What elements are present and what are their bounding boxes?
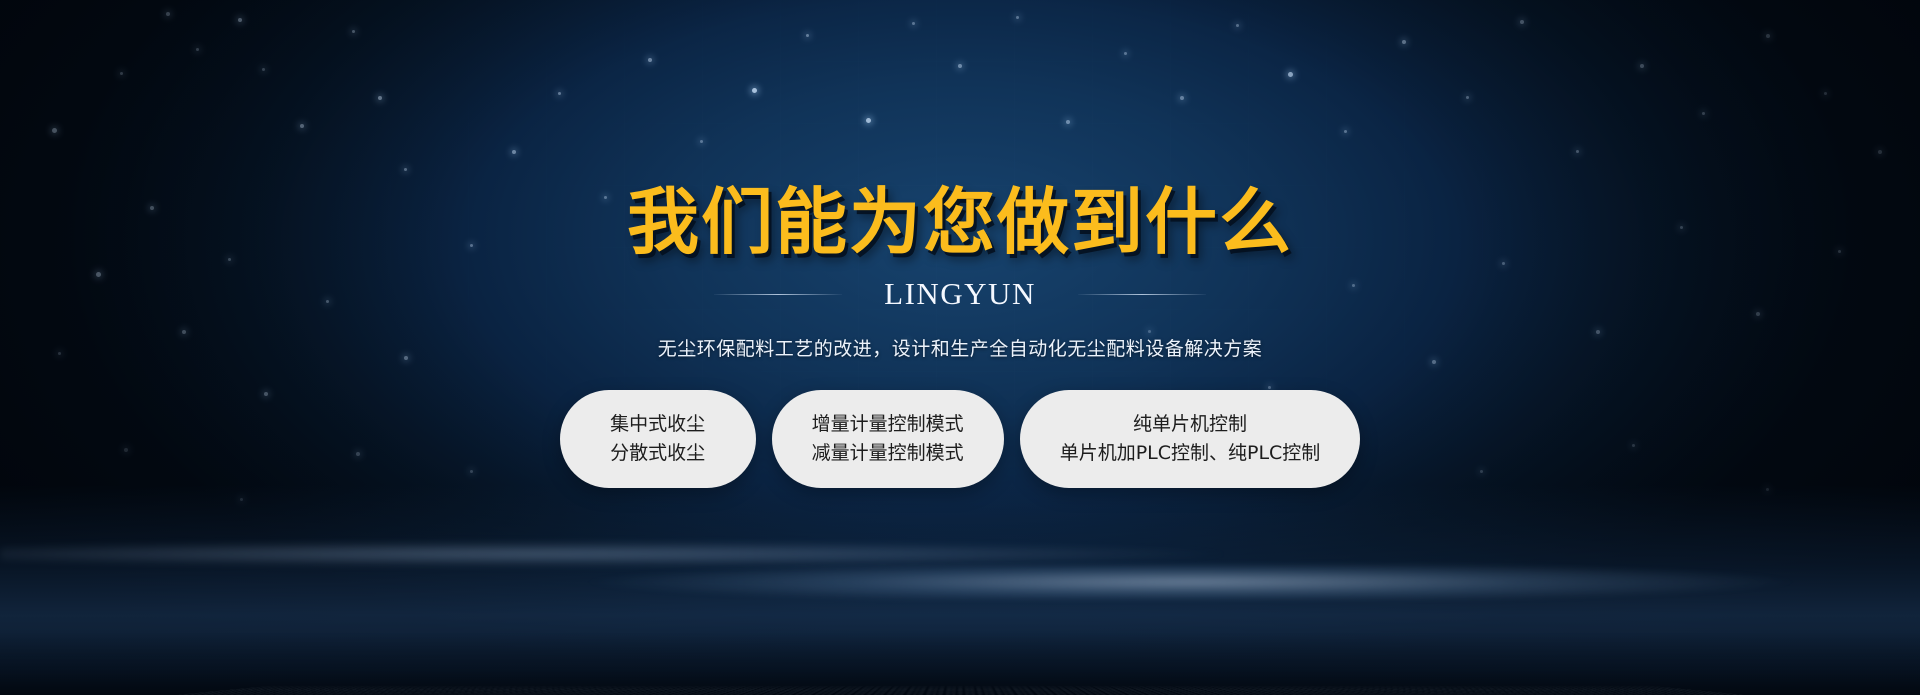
banner-description: 无尘环保配料工艺的改进，设计和生产全自动化无尘配料设备解决方案 [658,334,1263,361]
divider-line-right [1078,294,1206,295]
feature-card-dust-collection[interactable]: 集中式收尘 分散式收尘 [560,390,756,488]
feature-card-control-system[interactable]: 纯单片机控制 单片机加PLC控制、纯PLC控制 [1020,390,1361,488]
card-line-2: 单片机加PLC控制、纯PLC控制 [1060,439,1321,468]
card-line-2: 分散式收尘 [610,439,705,468]
brand-row: LINGYUN [714,276,1206,312]
banner-content: 我们能为您做到什么 LINGYUN 无尘环保配料工艺的改进，设计和生产全自动化无… [0,0,1920,695]
brand-latin-name: LINGYUN [884,276,1036,312]
divider-line-left [714,294,842,295]
card-line-1: 集中式收尘 [610,410,705,439]
page-title: 我们能为您做到什么 [627,186,1293,258]
card-line-1: 纯单片机控制 [1133,410,1247,439]
hero-banner: 我们能为您做到什么 LINGYUN 无尘环保配料工艺的改进，设计和生产全自动化无… [0,0,1920,695]
feature-card-list: 集中式收尘 分散式收尘 增量计量控制模式 减量计量控制模式 纯单片机控制 单片机… [560,390,1361,488]
card-line-1: 增量计量控制模式 [812,410,964,439]
feature-card-metering-mode[interactable]: 增量计量控制模式 减量计量控制模式 [772,390,1004,488]
card-line-2: 减量计量控制模式 [812,439,964,468]
